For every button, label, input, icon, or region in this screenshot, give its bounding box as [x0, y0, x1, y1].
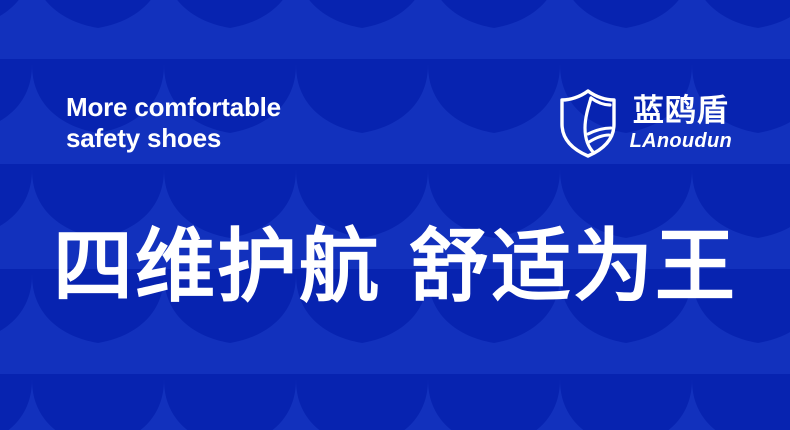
- main-headline: 四维护航舒适为王: [0, 216, 790, 318]
- english-subheading: More comfortable safety shoes: [66, 92, 406, 154]
- brand-wordmark: 蓝鸥盾 LAnoudun: [630, 95, 732, 151]
- brand-name-en: LAnoudun: [630, 131, 732, 151]
- brand-name-cn: 蓝鸥盾: [633, 95, 729, 126]
- brand-logo: 蓝鸥盾 LAnoudun: [558, 88, 732, 158]
- english-subheading-line-2: safety shoes: [66, 123, 406, 154]
- english-subheading-line-1: More comfortable: [66, 92, 406, 123]
- arch-tile-pattern: [0, 0, 790, 430]
- headline-segment-2: 舒适为王: [409, 222, 737, 311]
- headline-segment-1: 四维护航: [53, 222, 381, 311]
- promo-banner: More comfortable safety shoes 蓝鸥盾 LAnoud…: [0, 0, 790, 430]
- shield-icon: [558, 88, 618, 158]
